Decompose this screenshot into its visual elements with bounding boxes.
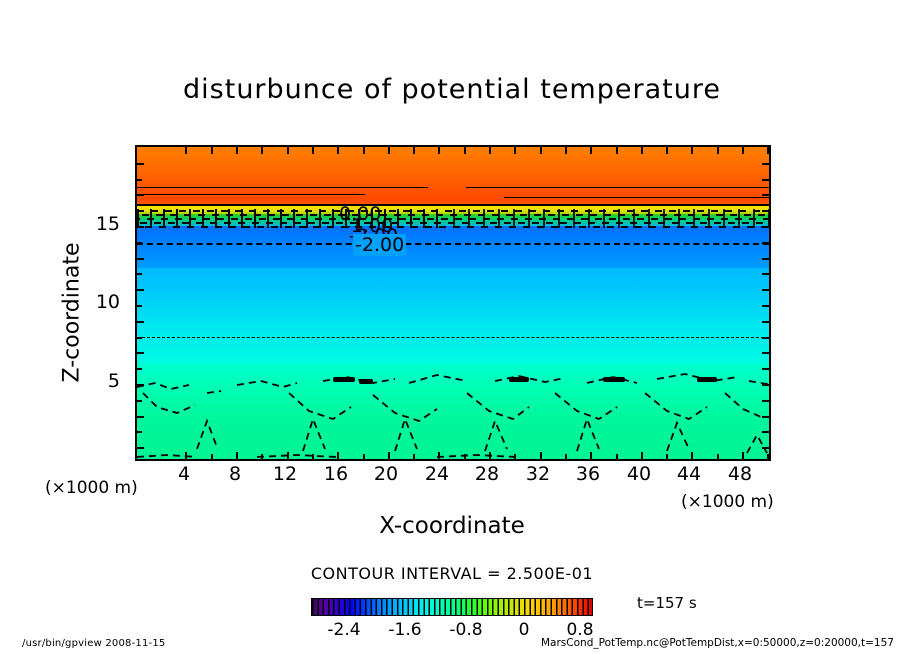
- contour-solid-top-edge: [137, 204, 769, 206]
- field-band-blue: [137, 225, 769, 268]
- y-tick-label: 5: [86, 370, 120, 392]
- contour-solid-upper-left2: [137, 194, 365, 195]
- x-axis-title: X-coordinate: [0, 513, 904, 539]
- x-tick-label: 12: [273, 463, 297, 485]
- contour-plot: 0.00 -1.00 -2.00 -2.00: [135, 145, 771, 461]
- x-tick-label: 8: [229, 463, 241, 485]
- contour-label-minus2: -2.00: [353, 234, 406, 256]
- page-title: disturbunce of potential temperature: [0, 74, 904, 105]
- y-tick-label: 15: [86, 213, 120, 235]
- x-tick-label: 44: [677, 463, 701, 485]
- x-tick-label: 48: [728, 463, 752, 485]
- contour-solid-upper-right2: [504, 197, 769, 198]
- footer-right: MarsCond_PotTemp.nc@PotTempDist,x=0:5000…: [541, 637, 894, 649]
- colorbar-tick-label: -0.8: [449, 620, 482, 640]
- contour-dash-z8: [137, 337, 769, 338]
- colorbar-band-separators: [312, 599, 592, 615]
- x-tick-label: 36: [576, 463, 600, 485]
- x-tick-label: 40: [627, 463, 651, 485]
- x-tick-label: 28: [475, 463, 499, 485]
- x-tick-label: 4: [178, 463, 190, 485]
- x-unit-right: (×1000 m): [681, 492, 774, 512]
- y-tick-label: 10: [86, 291, 120, 313]
- x-unit-left: (×1000 m): [45, 478, 138, 498]
- x-tick-label: 24: [425, 463, 449, 485]
- footer-left: /usr/bin/gpview 2008-11-15: [22, 638, 165, 649]
- x-tick-label: 20: [374, 463, 398, 485]
- contour-solid-upper-right: [466, 187, 769, 188]
- contour-dense-vertical-hatch-right: [453, 209, 769, 228]
- colorbar: [311, 598, 593, 616]
- field-band-cyan: [137, 267, 769, 363]
- colorbar-tick-label: 0: [519, 620, 530, 640]
- time-label: t=157 s: [637, 594, 697, 612]
- contour-field: 0.00 -1.00 -2.00 -2.00: [137, 147, 769, 459]
- x-tick-label: 32: [526, 463, 550, 485]
- contour-wave-structures: [137, 363, 771, 461]
- colorbar-tick-label: -1.6: [388, 620, 421, 640]
- contour-dash-minus2: [137, 243, 769, 245]
- contour-solid-upper-left: [137, 187, 428, 188]
- x-tick-label: 16: [324, 463, 348, 485]
- y-axis-title: Z-coordinate: [60, 213, 85, 413]
- colorbar-tick-label: -2.4: [327, 620, 360, 640]
- contour-interval-label: CONTOUR INTERVAL = 2.500E-01: [0, 564, 904, 583]
